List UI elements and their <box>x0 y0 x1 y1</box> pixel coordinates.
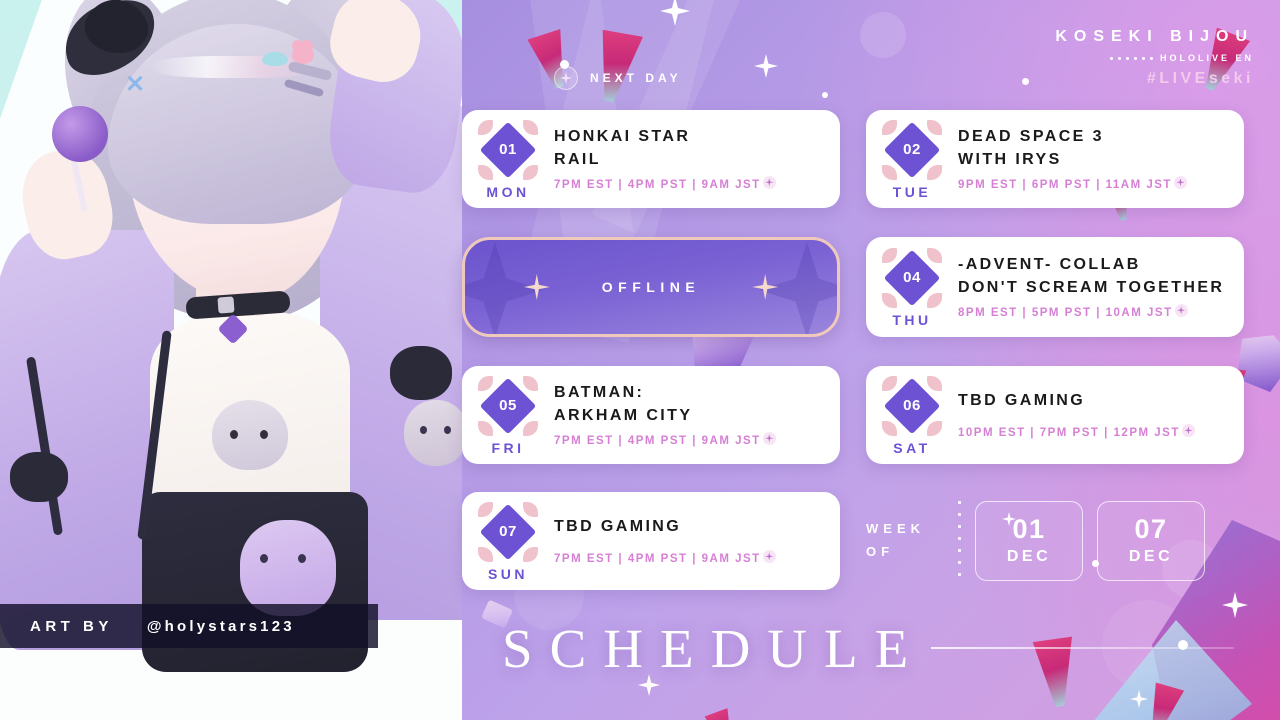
schedule-card-thu[interactable]: 04 THU -ADVENT- COLLAB DON'T SCREAM TOGE… <box>866 237 1244 337</box>
talent-name: KOSEKI BIJOU <box>1055 28 1254 46</box>
side-mascot <box>404 400 468 466</box>
date-number: 04 <box>883 249 941 307</box>
week-start-month: DEC <box>1007 548 1051 566</box>
day-badge: 01 MON <box>462 119 554 200</box>
stream-title-line1: DEAD SPACE 3 <box>958 126 1230 149</box>
diamond-date-icon: 02 <box>883 121 941 179</box>
stream-times: 7PM EST | 4PM PST | 9AM JST <box>554 179 761 191</box>
week-start-box: 01 DEC <box>975 501 1083 581</box>
dot-decoration <box>822 92 828 98</box>
card-info: TBD GAMING 7PM EST | 4PM PST | 9AM JST <box>554 516 840 566</box>
card-info: DEAD SPACE 3 WITH IRYS 9PM EST | 6PM PST… <box>958 126 1244 191</box>
card-info: HONKAI STAR RAIL 7PM EST | 4PM PST | 9AM… <box>554 126 840 191</box>
day-badge: 07 SUN <box>462 501 554 582</box>
offline-label: OFFLINE <box>602 279 700 295</box>
day-name: SAT <box>893 440 930 456</box>
next-day-marker-icon <box>1175 304 1188 317</box>
date-number: 05 <box>479 377 537 435</box>
dot-decoration <box>1178 640 1188 650</box>
stream-title-line2: WITH IRYS <box>958 149 1230 172</box>
week-of-line1: WEEK <box>866 518 956 541</box>
stream-times-row: 8PM EST | 5PM PST | 10AM JST <box>958 307 1230 320</box>
crystal-icon <box>686 674 747 720</box>
week-of-block: WEEK OF 01 DEC 07 DEC <box>866 492 1244 590</box>
date-number: 07 <box>479 503 537 561</box>
schedule-card-mon[interactable]: 01 MON HONKAI STAR RAIL 7PM EST | 4PM PS… <box>462 110 840 208</box>
day-name: FRI <box>491 440 524 456</box>
dot-separator-icon <box>1110 57 1153 60</box>
day-badge: 06 SAT <box>866 375 958 456</box>
choker-buckle <box>217 296 234 313</box>
offline-card[interactable]: OFFLINE <box>462 237 840 337</box>
schedule-card-tue[interactable]: 02 TUE DEAD SPACE 3 WITH IRYS 9PM EST | … <box>866 110 1244 208</box>
next-day-marker-icon <box>763 176 776 189</box>
stream-times-row: 7PM EST | 4PM PST | 9AM JST <box>554 435 826 448</box>
card-info: BATMAN: ARKHAM CITY 7PM EST | 4PM PST | … <box>554 382 840 447</box>
stream-times: 7PM EST | 4PM PST | 9AM JST <box>554 553 761 565</box>
stream-title-line2: DON'T SCREAM TOGETHER <box>958 277 1230 300</box>
diamond-date-icon: 01 <box>479 121 537 179</box>
shirt-mascot-print <box>212 400 288 470</box>
sparkle-icon <box>759 242 840 337</box>
sparkle-icon <box>554 66 578 90</box>
crystal-icon <box>1014 582 1092 705</box>
sparkle-icon <box>462 242 543 337</box>
jacket-patch-right <box>390 346 452 400</box>
day-badge: 04 THU <box>866 247 958 328</box>
date-number: 02 <box>883 121 941 179</box>
sparkle-icon <box>638 674 660 696</box>
stream-times: 8PM EST | 5PM PST | 10AM JST <box>958 307 1173 319</box>
stream-title-line1: BATMAN: <box>554 382 826 405</box>
day-name: TUE <box>893 184 932 200</box>
plush-charm <box>240 520 336 616</box>
hashtag-label: #LIVEseki <box>1055 70 1254 88</box>
week-date-boxes: 01 DEC 07 DEC <box>975 501 1205 581</box>
stream-times-row: 10PM EST | 7PM PST | 12PM JST <box>958 427 1230 440</box>
org-row: HOLOLIVE EN <box>1055 53 1254 63</box>
day-badge: 05 FRI <box>462 375 554 456</box>
jacket-patch-left <box>10 452 68 502</box>
week-end-month: DEC <box>1129 548 1173 566</box>
stream-title-line1: -ADVENT- COLLAB <box>958 254 1230 277</box>
branding-block: KOSEKI BIJOU HOLOLIVE EN #LIVEseki <box>1055 28 1254 88</box>
stream-times-row: 9PM EST | 6PM PST | 11AM JST <box>958 179 1230 192</box>
dotted-divider <box>958 501 961 581</box>
next-day-label: NEXT DAY <box>590 71 682 85</box>
next-day-legend: NEXT DAY <box>554 66 682 90</box>
diamond-date-icon: 05 <box>479 377 537 435</box>
day-name: THU <box>892 312 931 328</box>
schedule-background-panel: NEXT DAY KOSEKI BIJOU HOLOLIVE EN #LIVEs… <box>462 0 1280 720</box>
org-label: HOLOLIVE EN <box>1160 53 1254 63</box>
schedule-card-sat[interactable]: 06 SAT TBD GAMING 10PM EST | 7PM PST | 1… <box>866 366 1244 464</box>
stream-times-row: 7PM EST | 4PM PST | 9AM JST <box>554 553 826 566</box>
art-credit-label: ART BY <box>30 618 113 635</box>
card-info: TBD GAMING 10PM EST | 7PM PST | 12PM JST <box>958 390 1244 440</box>
stream-times-row: 7PM EST | 4PM PST | 9AM JST <box>554 179 826 192</box>
stream-times: 9PM EST | 6PM PST | 11AM JST <box>958 179 1172 191</box>
next-day-marker-icon <box>1182 424 1195 437</box>
art-credit-bar: ART BY @holystars123 <box>0 604 378 648</box>
day-name: SUN <box>488 566 528 582</box>
diamond-date-icon: 04 <box>883 249 941 307</box>
next-day-marker-icon <box>763 550 776 563</box>
stream-title-line2: RAIL <box>554 149 826 172</box>
diamond-date-icon: 07 <box>479 503 537 561</box>
bokeh-circle <box>860 12 906 58</box>
shard-icon <box>481 600 513 629</box>
x-hairpin-icon: ✕ <box>122 72 148 98</box>
next-day-marker-icon <box>1174 176 1187 189</box>
stream-times: 7PM EST | 4PM PST | 9AM JST <box>554 435 761 447</box>
week-of-label: WEEK OF <box>866 518 956 564</box>
bow-hairpin-icon <box>262 52 288 66</box>
schedule-card-sun[interactable]: 07 SUN TBD GAMING 7PM EST | 4PM PST | 9A… <box>462 492 840 590</box>
stream-times: 10PM EST | 7PM PST | 12PM JST <box>958 427 1180 439</box>
day-badge: 02 TUE <box>866 119 958 200</box>
next-day-marker-icon <box>763 432 776 445</box>
stream-title-line2: ARKHAM CITY <box>554 405 826 428</box>
heart-hairpin-icon <box>292 44 314 64</box>
stream-title-line1: HONKAI STAR <box>554 126 826 149</box>
schedule-graphic: ✕ <box>0 0 1280 720</box>
diamond-date-icon: 06 <box>883 377 941 435</box>
date-number: 01 <box>479 121 537 179</box>
day-name: MON <box>486 184 529 200</box>
sparkle-icon <box>752 274 778 300</box>
dot-decoration <box>1022 78 1029 85</box>
week-end-day: 07 <box>1134 516 1167 543</box>
card-info: -ADVENT- COLLAB DON'T SCREAM TOGETHER 8P… <box>958 254 1244 319</box>
lollipop-icon <box>52 106 108 162</box>
stream-title-line1: TBD GAMING <box>554 516 826 539</box>
stream-title-line1: TBD GAMING <box>958 390 1230 413</box>
date-number: 06 <box>883 377 941 435</box>
sparkle-icon <box>754 54 778 78</box>
week-start-day: 01 <box>1012 516 1045 543</box>
artist-handle[interactable]: @holystars123 <box>147 618 295 635</box>
week-of-line2: OF <box>866 541 956 564</box>
sparkle-icon <box>524 274 550 300</box>
schedule-card-fri[interactable]: 05 FRI BATMAN: ARKHAM CITY 7PM EST | 4PM… <box>462 366 840 464</box>
week-end-box: 07 DEC <box>1097 501 1205 581</box>
